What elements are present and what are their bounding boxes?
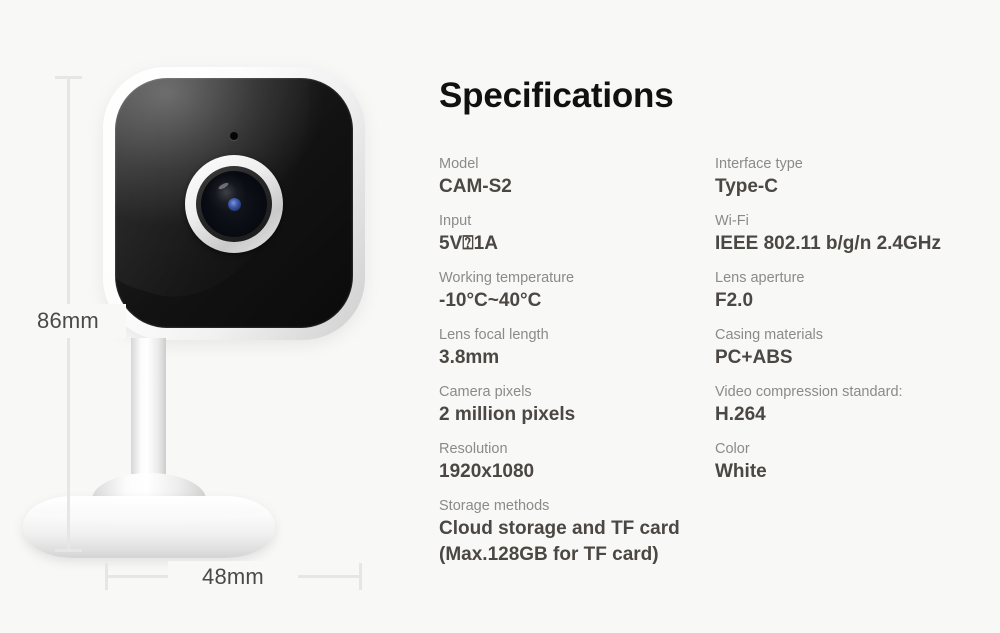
spec-item-wifi: Wi-Fi IEEE 802.11 b/g/n 2.4GHz xyxy=(715,211,1000,257)
lens-center-reflection xyxy=(228,198,241,211)
width-dimension-left-cap xyxy=(105,563,108,590)
spec-label: Wi-Fi xyxy=(715,211,1000,231)
spec-label: Camera pixels xyxy=(439,382,711,402)
page-title: Specifications xyxy=(439,76,674,116)
camera-neck xyxy=(131,338,166,486)
spec-value: H.264 xyxy=(715,402,1000,428)
spec-item-lens-aperture: Lens aperture F2.0 xyxy=(715,268,1000,314)
spec-item-video-compression-standard: Video compression standard: H.264 xyxy=(715,382,1000,428)
spec-value: -10°C~40°C xyxy=(439,288,711,314)
spec-item-storage-methods: Storage methods Cloud storage and TF car… xyxy=(439,496,711,568)
spec-item-lens-focal-length: Lens focal length 3.8mm xyxy=(439,325,711,371)
spec-column-right: Interface type Type-C Wi-Fi IEEE 802.11 … xyxy=(715,154,1000,496)
camera-lens xyxy=(185,155,283,253)
spec-value: IEEE 802.11 b/g/n 2.4GHz xyxy=(715,231,1000,257)
height-dimension-top-cap xyxy=(55,76,82,79)
spec-value: 2 million pixels xyxy=(439,402,711,428)
spec-label: Interface type xyxy=(715,154,1000,174)
spec-label: Casing materials xyxy=(715,325,1000,345)
camera-front-face xyxy=(115,78,353,328)
spec-label: Video compression standard: xyxy=(715,382,1000,402)
spec-value: CAM-S2 xyxy=(439,174,711,200)
spec-label: Model xyxy=(439,154,711,174)
spec-label: Storage methods xyxy=(439,496,711,516)
lens-glass xyxy=(201,171,267,237)
spec-value: 3.8mm xyxy=(439,345,711,371)
microphone-icon xyxy=(230,132,238,140)
spec-label: Lens focal length xyxy=(439,325,711,345)
specifications-panel: Specifications Model CAM-S2 Input 5V⍰1A … xyxy=(430,0,1000,633)
lens-flare-highlight xyxy=(218,182,230,191)
spec-value: Cloud storage and TF card (Max.128GB for… xyxy=(439,516,711,568)
width-dimension-label: 48mm xyxy=(168,561,298,593)
spec-value: PC+ABS xyxy=(715,345,1000,371)
spec-item-working-temperature: Working temperature -10°C~40°C xyxy=(439,268,711,314)
spec-value: F2.0 xyxy=(715,288,1000,314)
spec-value: 1920x1080 xyxy=(439,459,711,485)
spec-value: 5V⍰1A xyxy=(439,231,711,257)
spec-label: Working temperature xyxy=(439,268,711,288)
spec-item-interface-type: Interface type Type-C xyxy=(715,154,1000,200)
spec-item-casing-materials: Casing materials PC+ABS xyxy=(715,325,1000,371)
product-image-panel: 86mm 48mm xyxy=(0,0,430,633)
spec-column-left: Model CAM-S2 Input 5V⍰1A Working tempera… xyxy=(439,154,711,579)
spec-value: White xyxy=(715,459,1000,485)
spec-value: Type-C xyxy=(715,174,1000,200)
lens-barrel xyxy=(196,166,272,242)
height-dimension-bottom-cap xyxy=(55,549,82,552)
spec-item-resolution: Resolution 1920x1080 xyxy=(439,439,711,485)
spec-label: Input xyxy=(439,211,711,231)
spec-label: Lens aperture xyxy=(715,268,1000,288)
spec-item-model: Model CAM-S2 xyxy=(439,154,711,200)
light-sensor-icon xyxy=(230,282,239,291)
spec-label: Resolution xyxy=(439,439,711,459)
spec-label: Color xyxy=(715,439,1000,459)
spec-item-color: Color White xyxy=(715,439,1000,485)
height-dimension-label: 86mm xyxy=(10,304,126,338)
width-dimension-right-cap xyxy=(359,563,362,590)
spec-item-input: Input 5V⍰1A xyxy=(439,211,711,257)
camera-head xyxy=(103,67,365,340)
spec-item-camera-pixels: Camera pixels 2 million pixels xyxy=(439,382,711,428)
